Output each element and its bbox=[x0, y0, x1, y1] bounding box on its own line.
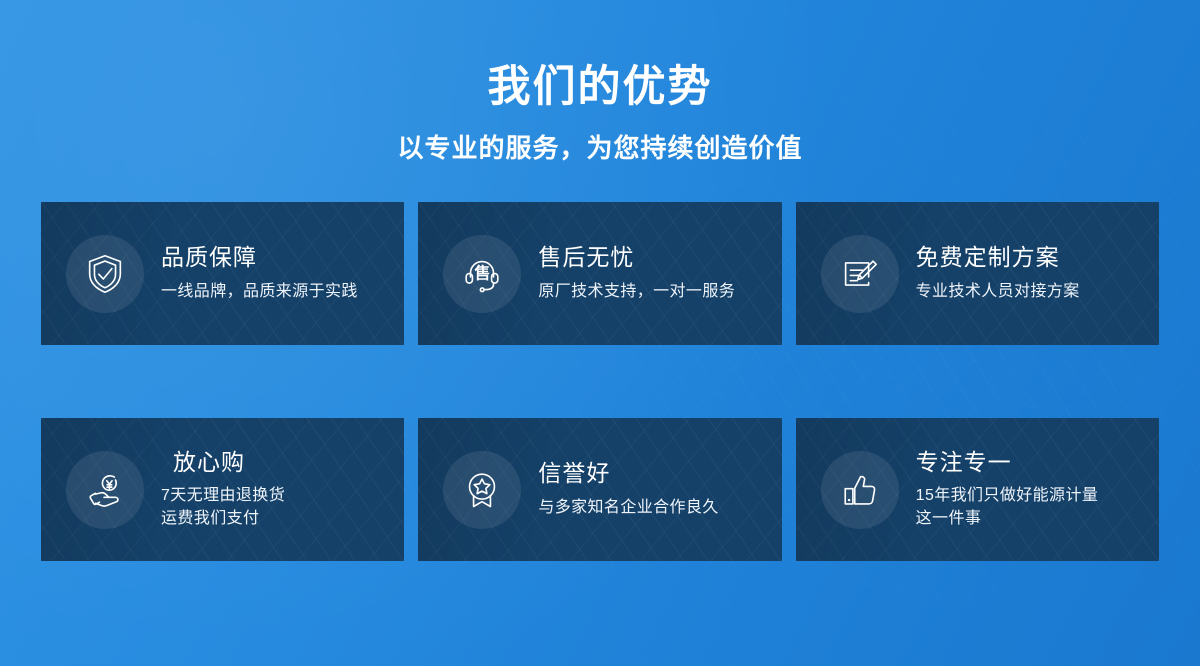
card-title: 售后无忧 bbox=[538, 244, 735, 271]
card-title: 专注专一 bbox=[916, 449, 1099, 476]
card-description-line: 与多家知名企业合作良久 bbox=[538, 496, 718, 519]
card-description-line: 运费我们支付 bbox=[161, 507, 285, 530]
card-description-line: 一线品牌，品质来源于实践 bbox=[161, 280, 358, 303]
shield-check-icon bbox=[66, 235, 144, 313]
heading-block: 我们的优势 以专业的服务，为您持续创造价值 bbox=[0, 0, 1200, 163]
card-title: 品质保障 bbox=[161, 244, 358, 271]
card-description-line: 专业技术人员对接方案 bbox=[916, 280, 1080, 303]
feature-card-free-custom-plan[interactable]: 免费定制方案 专业技术人员对接方案 bbox=[796, 202, 1159, 345]
advantages-banner: 我们的优势 以专业的服务，为您持续创造价值 品质保障 一线品牌，品质来源于实践 bbox=[0, 0, 1200, 666]
card-title: 免费定制方案 bbox=[916, 244, 1080, 271]
card-text: 售后无忧 原厂技术支持，一对一服务 bbox=[538, 244, 735, 303]
feature-card-worry-free-purchase[interactable]: 放心购 7天无理由退换货 运费我们支付 bbox=[41, 418, 404, 561]
document-edit-icon bbox=[821, 235, 899, 313]
card-text: 品质保障 一线品牌，品质来源于实践 bbox=[161, 244, 358, 303]
card-text: 放心购 7天无理由退换货 运费我们支付 bbox=[161, 449, 285, 531]
card-text: 专注专一 15年我们只做好能源计量 这一件事 bbox=[916, 449, 1099, 531]
page-title: 我们的优势 bbox=[0, 64, 1200, 110]
card-description-line: 7天无理由退换货 bbox=[161, 484, 285, 507]
card-description-line: 这一件事 bbox=[916, 507, 1099, 530]
card-description: 15年我们只做好能源计量 这一件事 bbox=[916, 484, 1099, 530]
card-description: 专业技术人员对接方案 bbox=[916, 280, 1080, 303]
thumbs-up-icon bbox=[821, 451, 899, 529]
card-title: 放心购 bbox=[161, 449, 285, 476]
card-text: 信誉好 与多家知名企业合作良久 bbox=[538, 460, 718, 519]
feature-card-after-sales[interactable]: 售 售后无忧 原厂技术支持，一对一服务 bbox=[418, 202, 781, 345]
headset-icon-glyph: 售 bbox=[443, 266, 521, 282]
card-description-line: 15年我们只做好能源计量 bbox=[916, 484, 1099, 507]
page-subtitle: 以专业的服务，为您持续创造价值 bbox=[0, 134, 1200, 163]
card-description-line: 原厂技术支持，一对一服务 bbox=[538, 280, 735, 303]
feature-card-focus[interactable]: 专注专一 15年我们只做好能源计量 这一件事 bbox=[796, 418, 1159, 561]
advantages-card-grid: 品质保障 一线品牌，品质来源于实践 售 售后无忧 bbox=[41, 163, 1159, 561]
card-description: 7天无理由退换货 运费我们支付 bbox=[161, 484, 285, 530]
hand-holding-yen-icon bbox=[66, 451, 144, 529]
headset-support-icon: 售 bbox=[443, 235, 521, 313]
card-title: 信誉好 bbox=[538, 460, 718, 487]
feature-card-reputation[interactable]: 信誉好 与多家知名企业合作良久 bbox=[418, 418, 781, 561]
card-description: 一线品牌，品质来源于实践 bbox=[161, 280, 358, 303]
card-text: 免费定制方案 专业技术人员对接方案 bbox=[916, 244, 1080, 303]
card-description: 原厂技术支持，一对一服务 bbox=[538, 280, 735, 303]
feature-card-quality[interactable]: 品质保障 一线品牌，品质来源于实践 bbox=[41, 202, 404, 345]
star-badge-icon bbox=[443, 451, 521, 529]
card-description: 与多家知名企业合作良久 bbox=[538, 496, 718, 519]
